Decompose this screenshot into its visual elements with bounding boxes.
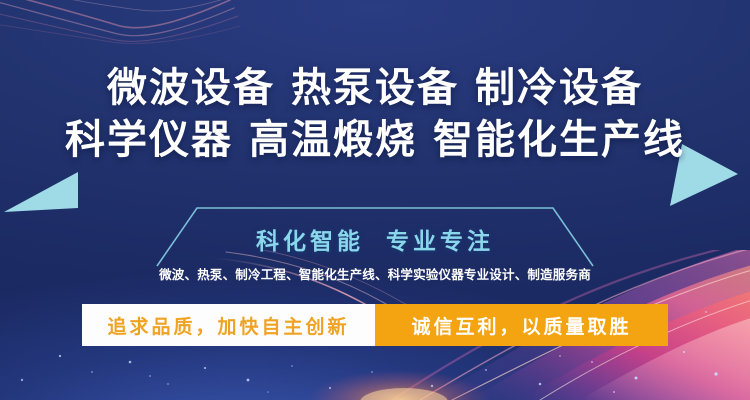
headline-line-2: 科学仪器高温煅烧智能化生产线 <box>0 114 750 166</box>
triangle-left-icon <box>2 168 80 218</box>
headline-line1-part2: 热泵设备 <box>291 66 459 110</box>
headline-line1-part1: 微波设备 <box>107 66 275 110</box>
promo-banner: 微波设备热泵设备制冷设备 科学仪器高温煅烧智能化生产线 科化智能专业专注 微波、… <box>0 0 750 400</box>
subtitle-cyan-part2: 专业专注 <box>386 228 494 254</box>
subtitle-cyan: 科化智能专业专注 <box>0 222 750 256</box>
subtitle-cyan-part1: 科化智能 <box>256 228 364 254</box>
headline-line1-part3: 制冷设备 <box>475 66 643 110</box>
headline-line-1: 微波设备热泵设备制冷设备 <box>0 62 750 114</box>
slogan-strip-group: 追求品质，加快自主创新 诚信互利，以质量取胜 <box>82 304 668 346</box>
headline-line2-part1: 科学仪器 <box>65 118 233 162</box>
headline-line2-part2: 高温煅烧 <box>249 118 417 162</box>
headline-line2-part3: 智能化生产线 <box>433 118 685 162</box>
slogan-left: 追求品质，加快自主创新 <box>82 304 375 346</box>
slogan-right: 诚信互利，以质量取胜 <box>375 304 668 346</box>
headline: 微波设备热泵设备制冷设备 科学仪器高温煅烧智能化生产线 <box>0 62 750 166</box>
subtitle-fine-print: 微波、热泵、制冷工程、智能化生产线、科学实验仪器专业设计、制造服务商 <box>0 264 750 283</box>
